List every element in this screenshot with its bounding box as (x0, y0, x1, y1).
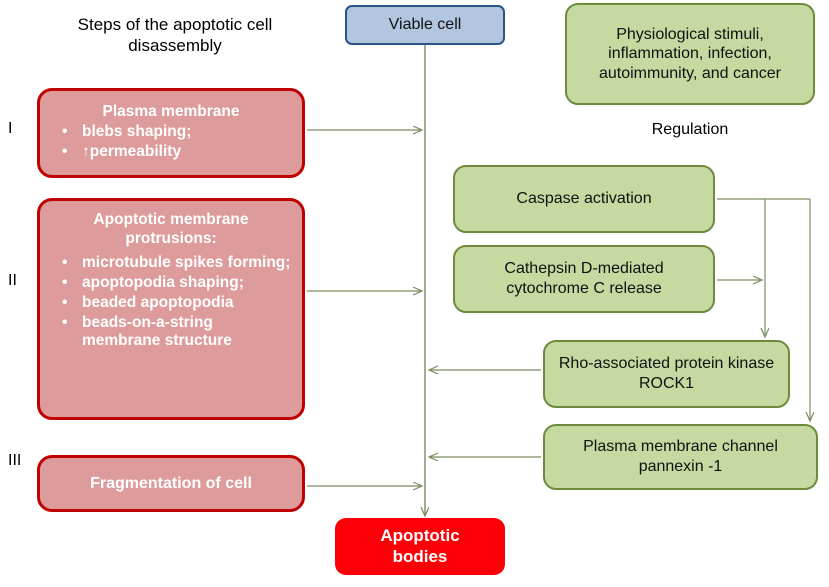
apoptotic-bodies-line-1: Apoptotic (380, 526, 459, 547)
step-numeral-iii: III (8, 452, 21, 470)
step-2-bullet-2: beaded apoptopodia (82, 294, 234, 311)
step-box-apoptotic-protrusions[interactable]: Apoptotic membrane protrusions: • microt… (37, 198, 305, 420)
bullet-glyph: • (62, 274, 67, 293)
stimuli-label: Physiological stimuli, inflammation, inf… (577, 25, 803, 84)
diagram-canvas: Steps of the apoptotic cell disassembly … (0, 0, 829, 587)
step-1-bullet-1: ↑permeability (82, 143, 181, 160)
list-item: • apoptopodia shaping; (48, 274, 294, 293)
list-item: • beads-on-a-string membrane structure (48, 314, 294, 352)
step-2-bullet-3: beads-on-a-string membrane structure (82, 314, 232, 350)
step-1-heading: Plasma membrane (48, 103, 294, 122)
node-viable-cell[interactable]: Viable cell (345, 5, 505, 45)
step-2-bullet-0: microtubule spikes forming; (82, 254, 290, 271)
list-item: • blebs shaping; (48, 123, 294, 142)
step-2-bullet-1: apoptopodia shaping; (82, 274, 244, 291)
left-column-title: Steps of the apoptotic cell disassembly (40, 14, 310, 57)
node-physiological-stimuli[interactable]: Physiological stimuli, inflammation, inf… (565, 3, 815, 105)
cathepsin-label: Cathepsin D-mediated cytochrome C releas… (465, 259, 703, 298)
node-cathepsin-d[interactable]: Cathepsin D-mediated cytochrome C releas… (453, 245, 715, 313)
list-item: • beaded apoptopodia (48, 294, 294, 313)
regulation-label: Regulation (600, 120, 780, 140)
rock1-label: Rho-associated protein kinase ROCK1 (555, 354, 778, 393)
bullet-glyph: • (62, 254, 67, 273)
step-numeral-ii: II (8, 272, 17, 290)
step-2-heading: Apoptotic membrane protrusions: (30, 211, 312, 249)
step-box-fragmentation[interactable]: Fragmentation of cell (37, 455, 305, 512)
node-apoptotic-bodies[interactable]: Apoptotic bodies (335, 518, 505, 575)
pannexin-label: Plasma membrane channel pannexin -1 (555, 437, 806, 476)
list-item: • ↑permeability (48, 143, 294, 162)
caspase-label: Caspase activation (516, 189, 651, 209)
bullet-glyph: • (62, 314, 67, 333)
step-1-bullet-0: blebs shaping; (82, 123, 191, 140)
step-2-bullet-list: • microtubule spikes forming; • apoptopo… (48, 253, 294, 353)
step-3-heading: Fragmentation of cell (48, 474, 294, 494)
node-pannexin-1[interactable]: Plasma membrane channel pannexin -1 (543, 424, 818, 490)
list-item: • microtubule spikes forming; (48, 254, 294, 273)
viable-cell-label: Viable cell (389, 15, 462, 35)
apoptotic-bodies-line-2: bodies (393, 547, 448, 568)
node-rock1[interactable]: Rho-associated protein kinase ROCK1 (543, 340, 790, 408)
step-box-plasma-membrane[interactable]: Plasma membrane • blebs shaping; • ↑perm… (37, 88, 305, 178)
step-1-bullet-list: • blebs shaping; • ↑permeability (48, 122, 294, 163)
bullet-glyph: • (62, 294, 67, 313)
bullet-glyph: • (62, 123, 67, 142)
node-caspase-activation[interactable]: Caspase activation (453, 165, 715, 233)
bullet-glyph: • (62, 143, 67, 162)
step-numeral-i: I (8, 120, 12, 138)
